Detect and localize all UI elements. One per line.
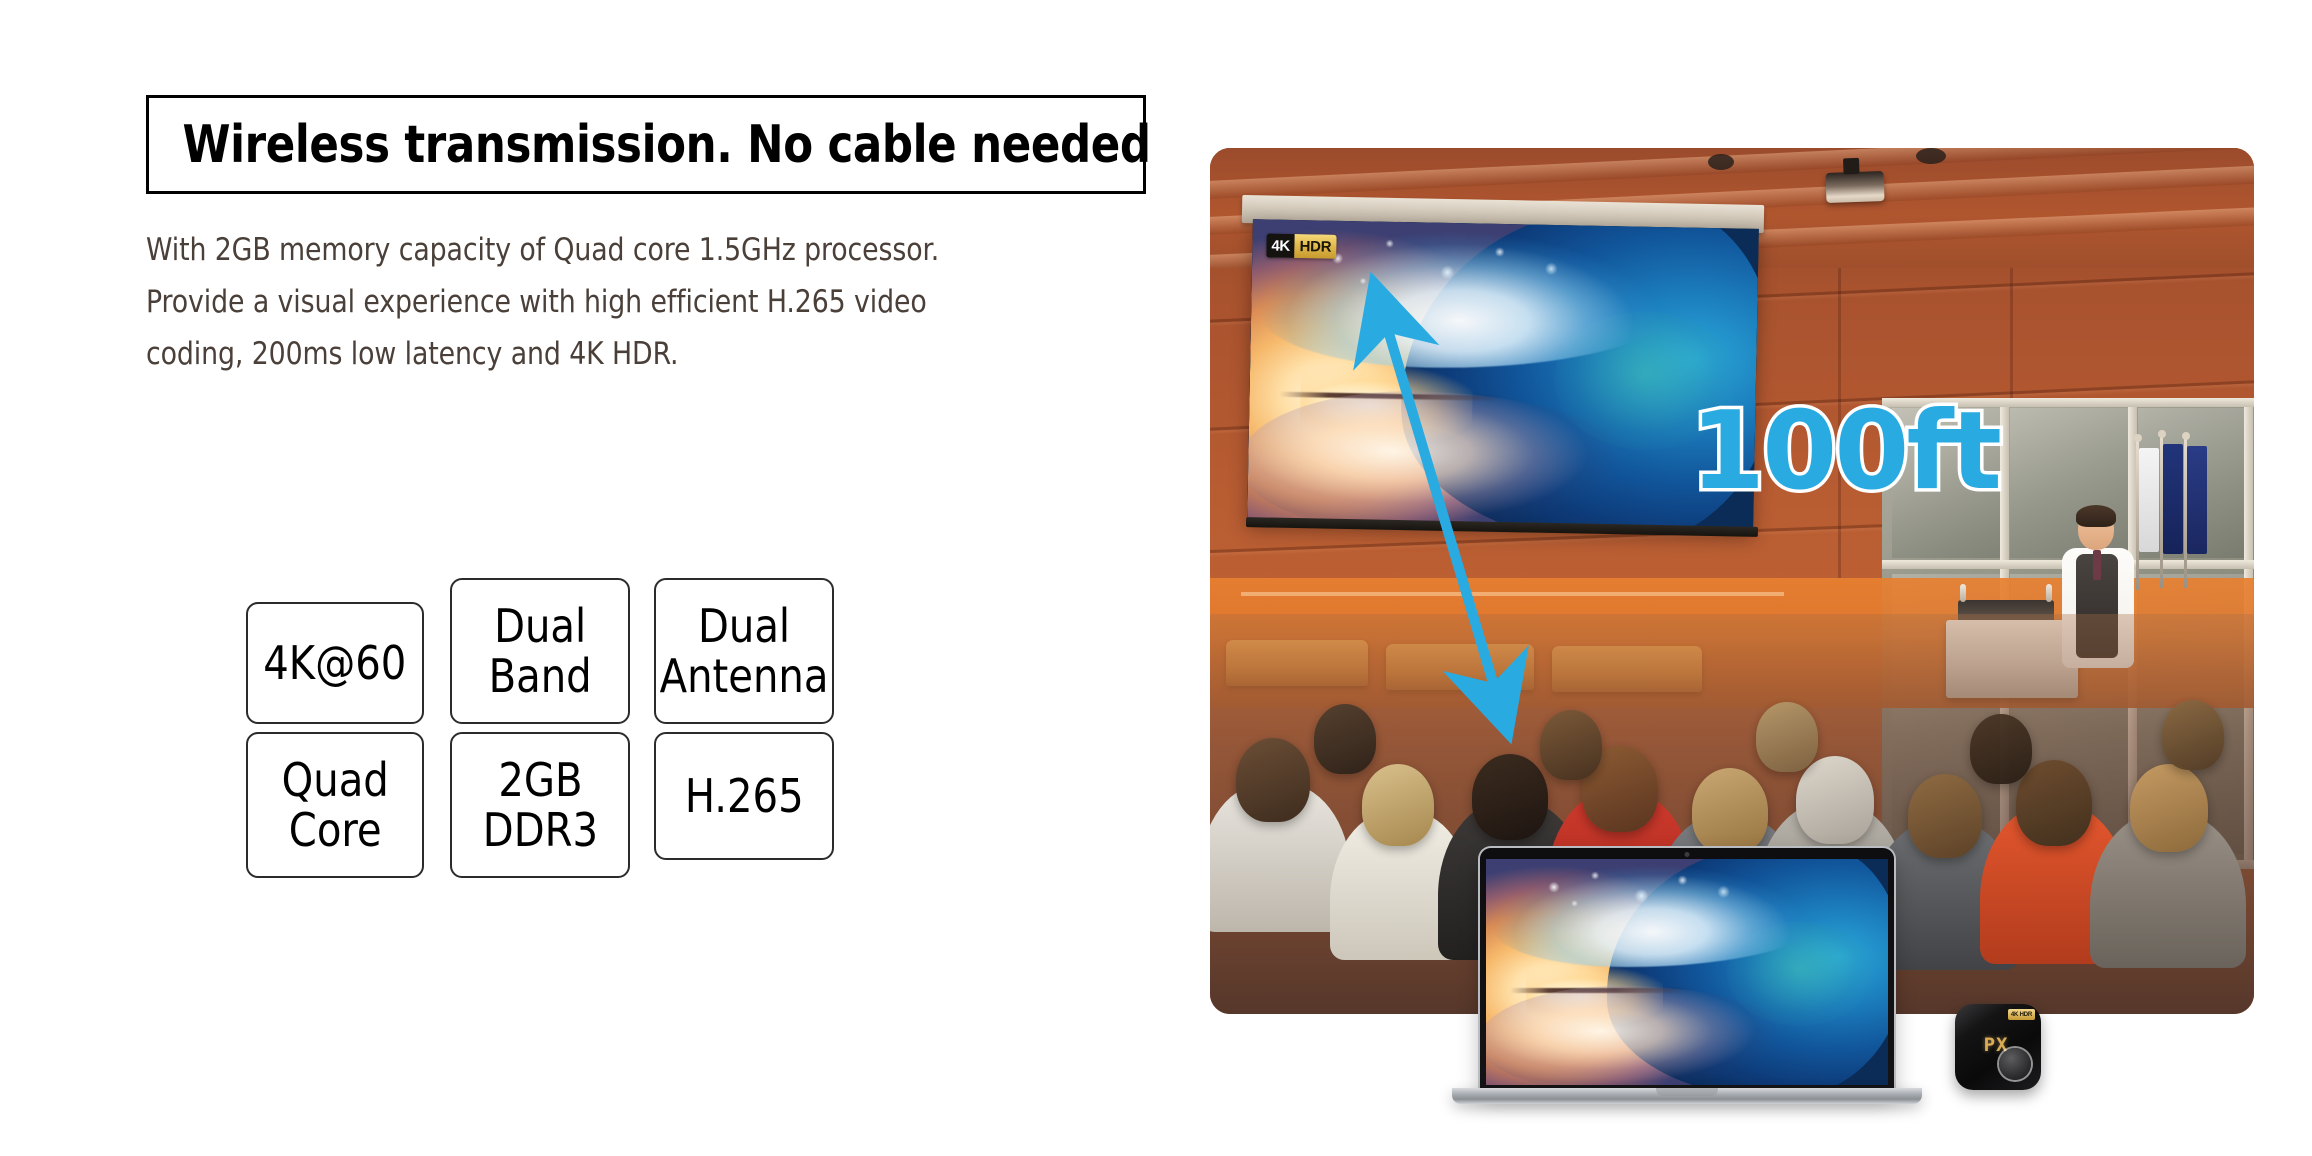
ocean-wave-image bbox=[1486, 859, 1888, 1085]
laptop-device bbox=[1452, 848, 1922, 1116]
projection-screen: 4K HDR bbox=[1246, 200, 1758, 540]
screen-surface: 4K HDR bbox=[1247, 219, 1759, 531]
ocean-wave-image bbox=[1247, 219, 1759, 531]
feature-label-resolution: 4K@60 bbox=[263, 637, 406, 689]
feature-row-1: 4K@60 Dual Band Dual Antenna bbox=[246, 578, 1066, 724]
laptop-notch bbox=[1656, 1088, 1718, 1096]
description-paragraph: With 2GB memory capacity of Quad core 1.… bbox=[146, 224, 1156, 380]
feature-box-resolution: 4K@60 bbox=[246, 602, 424, 724]
headline-box: Wireless transmission. No cable needed bbox=[146, 95, 1146, 194]
description-line-2: Provide a visual experience with high ef… bbox=[146, 276, 1116, 328]
stage-rail bbox=[1241, 592, 1784, 596]
laptop-lid bbox=[1480, 848, 1894, 1091]
feature-box-quad-core: Quad Core bbox=[246, 732, 424, 878]
page-title: Wireless transmission. No cable needed bbox=[149, 115, 1151, 175]
distance-label: 100ft bbox=[1690, 398, 1999, 506]
left-content-column: Wireless transmission. No cable needed W… bbox=[0, 0, 1180, 1156]
feature-label-dual-band-line2: Band bbox=[488, 651, 591, 701]
laptop-screen bbox=[1486, 859, 1888, 1085]
hdr-badge: 4K HDR bbox=[1266, 233, 1336, 258]
feature-box-dual-band: Dual Band bbox=[450, 578, 630, 724]
dongle-badge: 4K HDR bbox=[2008, 1009, 2035, 1020]
feature-label-dual-band-line1: Dual bbox=[488, 601, 591, 651]
badge-hdr-label: HDR bbox=[1294, 234, 1336, 259]
projector-icon bbox=[1825, 171, 1884, 203]
feature-box-memory: 2GB DDR3 bbox=[450, 732, 630, 878]
feature-label-quad-core-line2: Core bbox=[281, 805, 388, 855]
feature-label-quad-core-line1: Quad bbox=[281, 755, 388, 805]
description-line-1: With 2GB memory capacity of Quad core 1.… bbox=[146, 224, 1116, 276]
feature-spec-grid: 4K@60 Dual Band Dual Antenna bbox=[246, 578, 1066, 878]
feature-row-2: Quad Core 2GB DDR3 H.265 bbox=[246, 732, 1066, 878]
feature-label-memory-line2: DDR3 bbox=[482, 805, 597, 855]
wireless-dongle-device: 4K HDR PX bbox=[1955, 1004, 2041, 1090]
feature-box-codec: H.265 bbox=[654, 732, 834, 860]
webcam-icon bbox=[1685, 852, 1690, 857]
ceiling-speaker-icon bbox=[1708, 154, 1734, 170]
feature-label-dual-antenna-line2: Antenna bbox=[660, 651, 829, 701]
description-line-3: coding, 200ms low latency and 4K HDR. bbox=[146, 328, 1116, 380]
badge-4k-label: 4K bbox=[1266, 233, 1295, 258]
feature-label-dual-antenna-line1: Dual bbox=[660, 601, 829, 651]
feature-label-memory-line1: 2GB bbox=[482, 755, 597, 805]
product-feature-panel: Wireless transmission. No cable needed W… bbox=[0, 0, 2312, 1156]
dongle-button[interactable] bbox=[1999, 1048, 2031, 1080]
ceiling-speaker-icon bbox=[1916, 148, 1946, 164]
feature-label-codec: H.265 bbox=[685, 770, 804, 822]
feature-box-dual-antenna: Dual Antenna bbox=[654, 578, 834, 724]
